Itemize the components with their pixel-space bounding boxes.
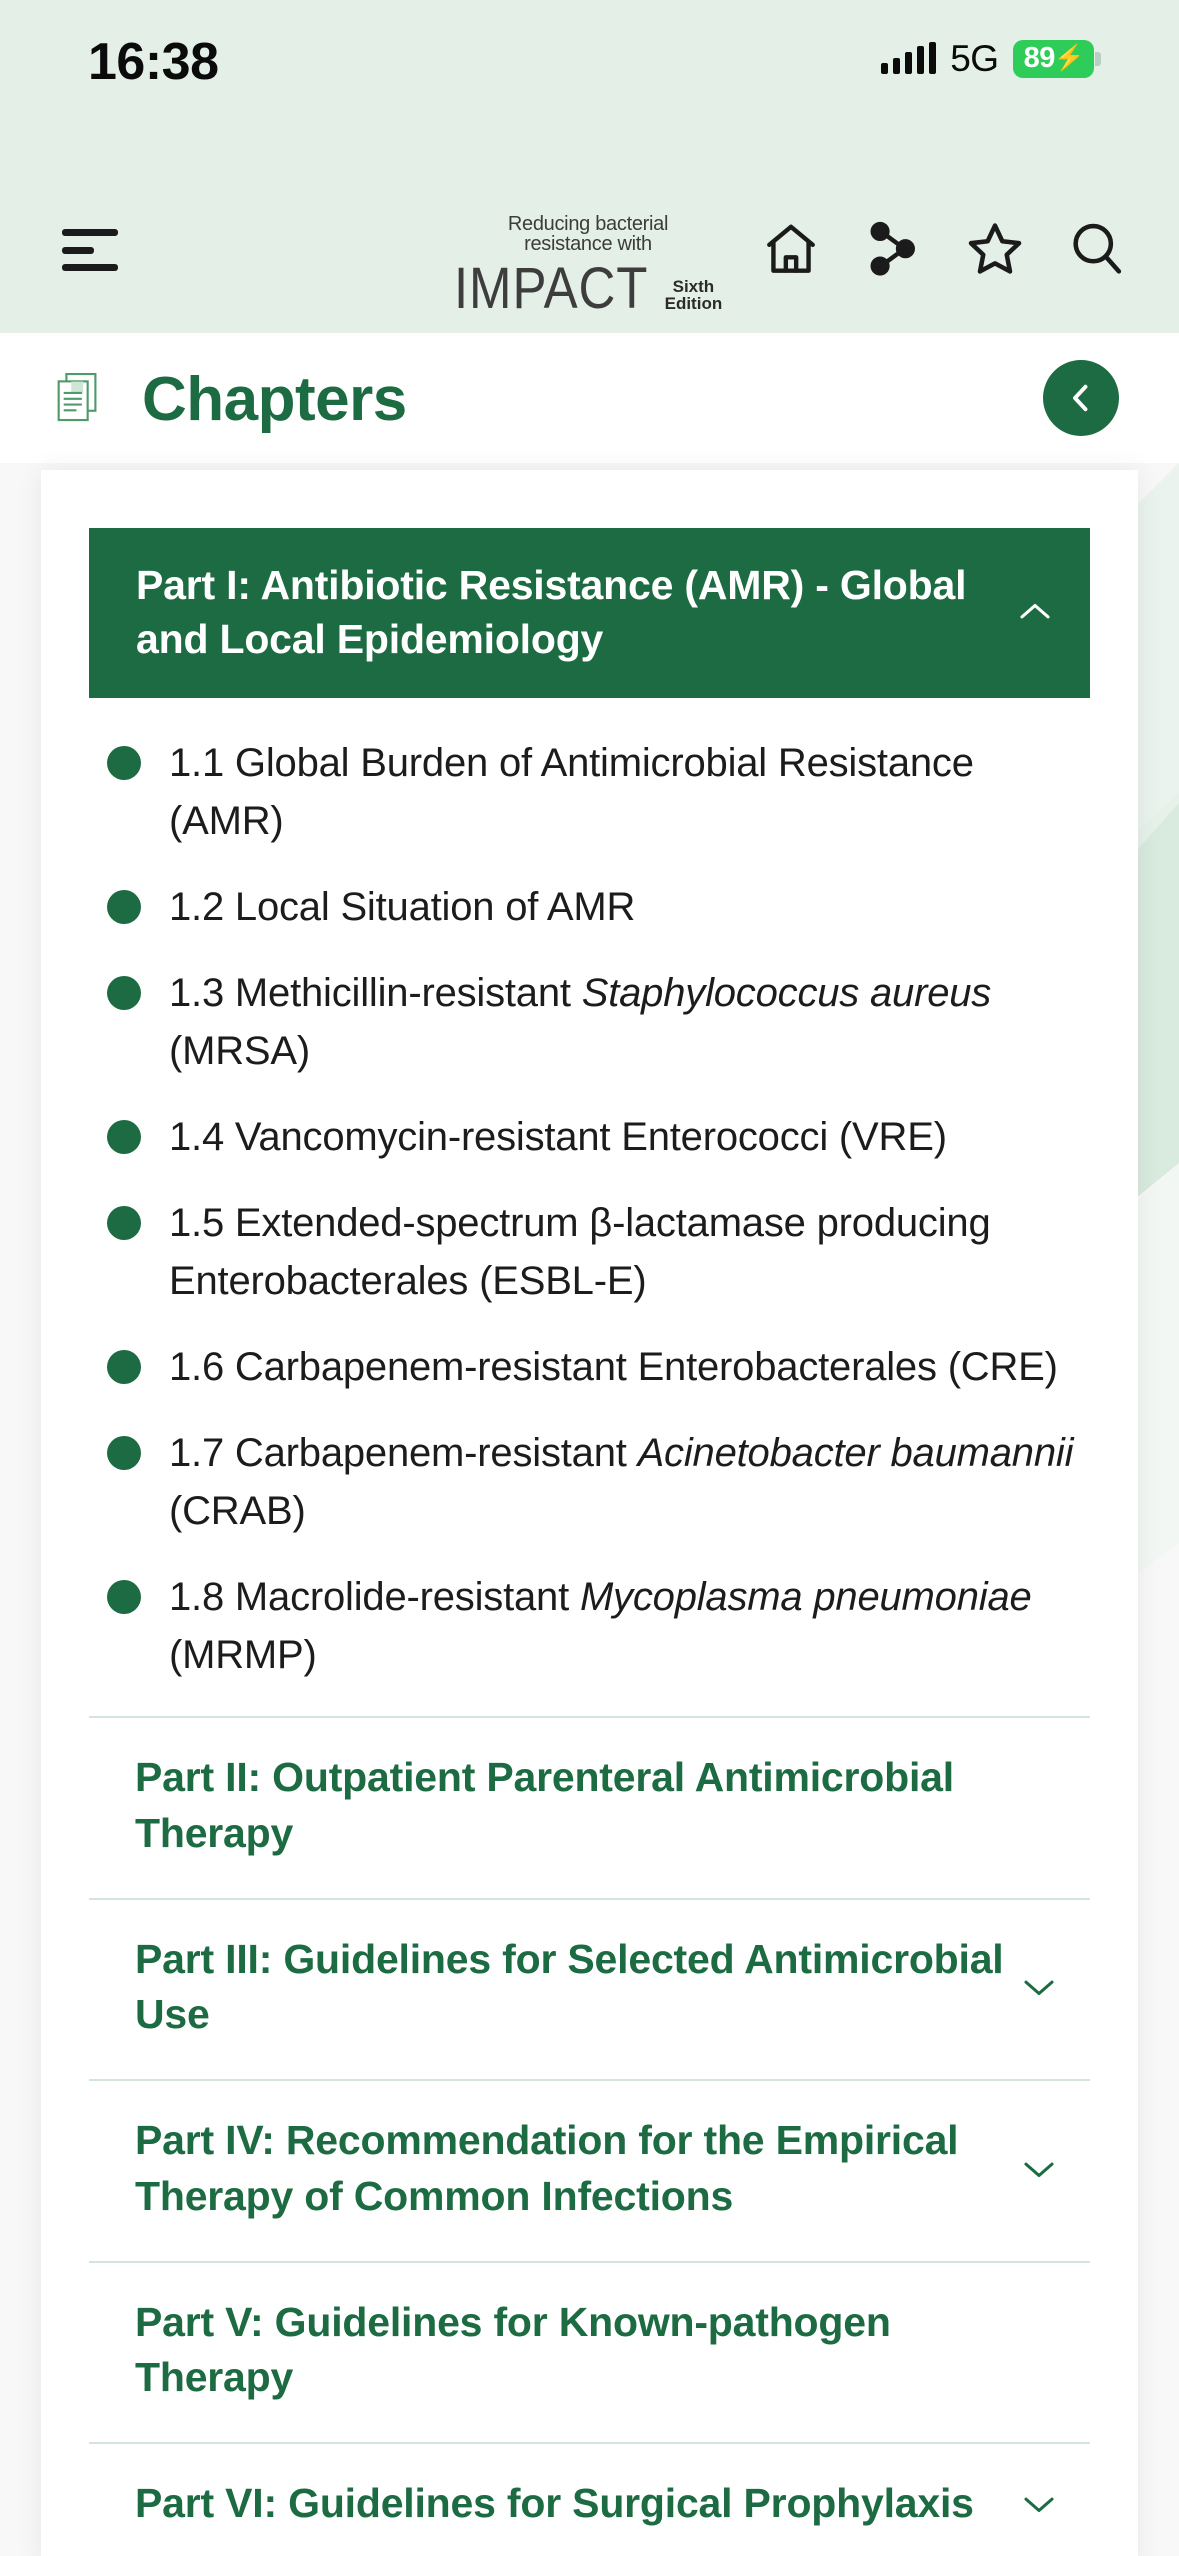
chevron-left-icon xyxy=(1063,380,1099,416)
search-icon[interactable] xyxy=(1063,210,1131,288)
chapter-label: 1.3 Methicillin-resistant Staphylococcus… xyxy=(169,964,1080,1080)
back-button[interactable] xyxy=(1043,360,1119,436)
star-icon[interactable] xyxy=(961,210,1029,288)
list-item[interactable]: 1.6 Carbapenem-resistant Enterobacterale… xyxy=(89,1324,1090,1410)
chapter-label: 1.6 Carbapenem-resistant Enterobacterale… xyxy=(169,1338,1058,1396)
hamburger-menu-icon[interactable] xyxy=(62,222,126,278)
chevron-down-icon[interactable] xyxy=(1018,2491,1060,2517)
documents-icon xyxy=(48,369,108,427)
home-icon[interactable] xyxy=(757,210,825,288)
bullet-icon xyxy=(107,1350,141,1384)
bullet-icon xyxy=(107,746,141,780)
bullet-icon xyxy=(107,890,141,924)
list-item[interactable]: 1.8 Macrolide-resistant Mycoplasma pneum… xyxy=(89,1554,1090,1698)
part-header-collapsed[interactable]: Part VI: Guidelines for Surgical Prophyl… xyxy=(89,2442,1090,2556)
chapter-label: 1.2 Local Situation of AMR xyxy=(169,878,635,936)
chapter-label: 1.5 Extended-spectrum β-lactamase produc… xyxy=(169,1194,1080,1310)
page-title-bar: Chapters xyxy=(0,333,1179,463)
page-title: Chapters xyxy=(142,364,407,435)
part-title: Part IV: Recommendation for the Empirica… xyxy=(135,2113,1015,2225)
app-screen: 16:38 5G 89 ⚡ Reducing bacterial resista… xyxy=(0,0,1179,2556)
list-item[interactable]: 1.1 Global Burden of Antimicrobial Resis… xyxy=(89,720,1090,864)
chevron-up-icon[interactable] xyxy=(1014,599,1056,625)
header-icon-group xyxy=(757,210,1131,288)
network-type-label: 5G xyxy=(950,38,998,80)
list-item[interactable]: 1.5 Extended-spectrum β-lactamase produc… xyxy=(89,1180,1090,1324)
signal-bars-icon xyxy=(881,44,936,74)
part-title: Part III: Guidelines for Selected Antimi… xyxy=(135,1932,1015,2044)
chevron-down-icon[interactable] xyxy=(1018,1974,1060,2000)
app-header: Reducing bacterial resistance with IMPAC… xyxy=(0,196,1179,306)
logo-edition: Sixth Edition xyxy=(665,278,723,318)
chapter-label: 1.8 Macrolide-resistant Mycoplasma pneum… xyxy=(169,1568,1080,1684)
part-title: Part V: Guidelines for Known-pathogen Th… xyxy=(135,2295,1015,2407)
part-header-collapsed[interactable]: Part III: Guidelines for Selected Antimi… xyxy=(89,1898,1090,2080)
chapters-list-container: Part I: Antibiotic Resistance (AMR) - Gl… xyxy=(41,470,1138,2556)
part-header-collapsed[interactable]: Part IV: Recommendation for the Empirica… xyxy=(89,2079,1090,2261)
part-header-collapsed[interactable]: Part II: Outpatient Parenteral Antimicro… xyxy=(89,1716,1090,1898)
chevron-down-icon[interactable] xyxy=(1018,2156,1060,2182)
status-time: 16:38 xyxy=(88,32,219,92)
status-indicators: 5G 89 ⚡ xyxy=(881,38,1101,80)
part-title: Part II: Outpatient Parenteral Antimicro… xyxy=(135,1750,1015,1862)
bullet-icon xyxy=(107,1120,141,1154)
list-item[interactable]: 1.4 Vancomycin-resistant Enterococci (VR… xyxy=(89,1094,1090,1180)
bullet-icon xyxy=(107,1436,141,1470)
chapters-card: Part I: Antibiotic Resistance (AMR) - Gl… xyxy=(41,470,1138,2556)
logo-tagline: Reducing bacterial resistance with xyxy=(463,214,713,254)
battery-tip xyxy=(1095,52,1101,66)
chapter-label: 1.4 Vancomycin-resistant Enterococci (VR… xyxy=(169,1108,947,1166)
bullet-icon xyxy=(107,1580,141,1614)
battery-percent-label: 89 xyxy=(1024,42,1055,75)
share-network-icon[interactable] xyxy=(859,210,927,288)
chapter-label: 1.1 Global Burden of Antimicrobial Resis… xyxy=(169,734,1080,850)
part-header-expanded[interactable]: Part I: Antibiotic Resistance (AMR) - Gl… xyxy=(89,528,1090,698)
bullet-icon xyxy=(107,976,141,1010)
part-title: Part VI: Guidelines for Surgical Prophyl… xyxy=(135,2476,974,2532)
part-header-collapsed[interactable]: Part V: Guidelines for Known-pathogen Th… xyxy=(89,2261,1090,2443)
battery-indicator: 89 ⚡ xyxy=(1013,40,1101,78)
chapter-label: 1.7 Carbapenem-resistant Acinetobacter b… xyxy=(169,1424,1080,1540)
status-bar: 16:38 5G 89 ⚡ xyxy=(0,0,1179,130)
list-item[interactable]: 1.3 Methicillin-resistant Staphylococcus… xyxy=(89,950,1090,1094)
app-logo[interactable]: Reducing bacterial resistance with IMPAC… xyxy=(463,214,713,318)
part-title: Part I: Antibiotic Resistance (AMR) - Gl… xyxy=(136,558,976,666)
logo-wordmark: IMPACT xyxy=(454,260,648,318)
list-item[interactable]: 1.7 Carbapenem-resistant Acinetobacter b… xyxy=(89,1410,1090,1554)
chapter-list: 1.1 Global Burden of Antimicrobial Resis… xyxy=(89,698,1090,1716)
bullet-icon xyxy=(107,1206,141,1240)
bolt-icon: ⚡ xyxy=(1054,44,1085,73)
list-item[interactable]: 1.2 Local Situation of AMR xyxy=(89,864,1090,950)
